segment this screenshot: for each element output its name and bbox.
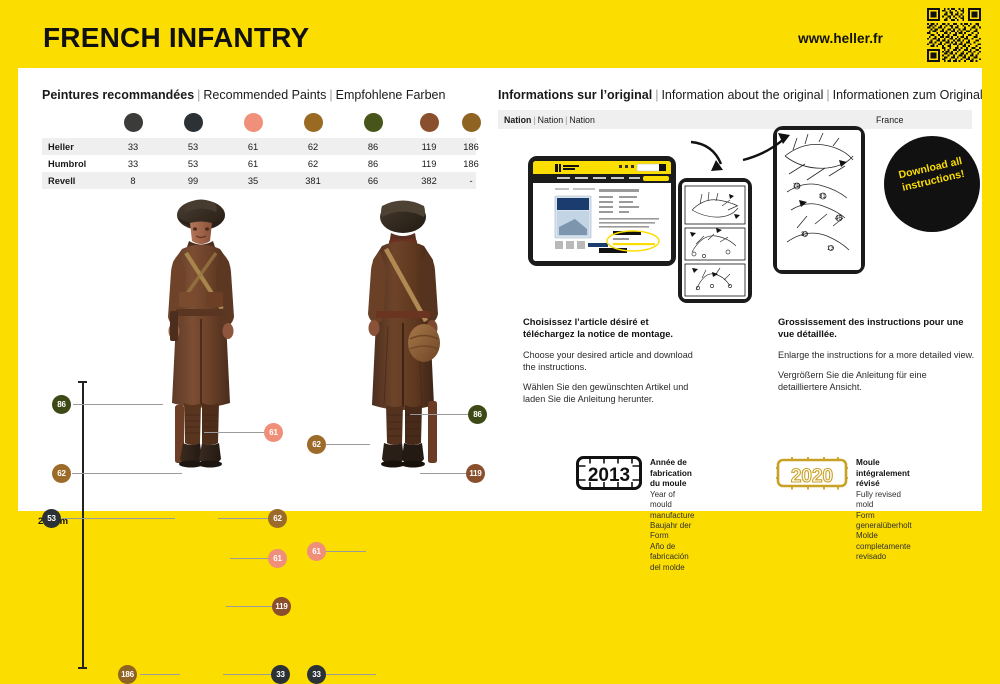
soldier-front-figure: [146, 191, 256, 491]
nation-row: Nation|Nation|Nation France: [498, 110, 972, 129]
paint-code-cell: 382: [409, 176, 449, 186]
leader-line: [204, 432, 266, 433]
mould-2020-de: Form generalüberholt: [856, 511, 912, 532]
paint-brand-label: Humbrol: [48, 159, 86, 169]
original-title-en: Information about the original: [661, 88, 823, 102]
paint-code-cell: 381: [293, 176, 333, 186]
paint-swatch-dark-ochre: [462, 113, 481, 132]
paint-code-cell: 119: [409, 142, 449, 152]
callout-badge-62-rear[interactable]: 62: [307, 435, 326, 454]
paint-code-cell: 186: [451, 142, 491, 152]
mould-2020-fr: Moule intégralement révisé: [856, 458, 912, 490]
paint-brand-label: Revell: [48, 176, 75, 186]
scale-bar-cap-bottom: [78, 667, 87, 669]
nation-label-fr: Nation: [504, 115, 531, 125]
leader-line: [72, 473, 182, 474]
website-url[interactable]: www.heller.fr: [798, 31, 883, 46]
mould-2020-sprue-icon: 2020: [776, 456, 848, 495]
paints-section-title: Peintures recommandées|Recommended Paint…: [42, 88, 445, 102]
paint-swatch-dark-grey: [124, 113, 143, 132]
paint-code-cell: 53: [173, 142, 213, 152]
callout-badge-119-front[interactable]: 119: [272, 597, 291, 616]
paint-code-cell: 186: [451, 159, 491, 169]
scale-bar-line: [82, 381, 84, 669]
paint-brand-label: Heller: [48, 142, 74, 152]
paints-title-en: Recommended Paints: [203, 88, 326, 102]
callout-badge-33-rear[interactable]: 33: [307, 665, 326, 684]
mould-2020-es: Molde completamente revisado: [856, 531, 912, 562]
instruction-blurbs: Choisissez l’article désiré et télécharg…: [488, 316, 982, 436]
scale-bar: [78, 381, 87, 669]
figure-diagram: 25 mm: [18, 186, 488, 511]
arrow-right-down-icon: [688, 138, 736, 179]
blurb-right-heading: Grossissement des instructions pour une …: [778, 316, 976, 341]
phone-mockup-instructions: [678, 178, 752, 303]
nation-label-en: Nation: [538, 115, 563, 125]
paint-code-cell: 66: [353, 176, 393, 186]
blurb-enlarge-instructions: Grossissement des instructions pour une …: [778, 316, 976, 393]
leader-line: [410, 414, 470, 415]
paints-panel: Peintures recommandées|Recommended Paint…: [18, 68, 488, 511]
paint-row-heller: Heller3353616286119186: [42, 138, 476, 155]
leader-line: [223, 674, 273, 675]
mould-2013-es: Año de fabricación del molde: [650, 542, 694, 573]
blurb-left-en: Choose your desired article and download…: [523, 349, 701, 373]
download-badge-text: Download all instructions!: [882, 152, 981, 199]
scale-bar-cap-top: [78, 381, 87, 383]
leader-line: [326, 444, 370, 445]
blurb-right-de: Vergrößern Sie die Anleitung für eine de…: [778, 369, 976, 393]
original-title-fr: Informations sur l’original: [498, 88, 652, 102]
paint-code-cell: -: [451, 176, 491, 186]
callout-badge-186-front[interactable]: 186: [118, 665, 137, 684]
paint-code-cell: 61: [233, 159, 273, 169]
blurb-choose-article: Choisissez l’article désiré et télécharg…: [523, 316, 701, 406]
leader-line: [420, 473, 468, 474]
mould-2020-en: Fully revised mold: [856, 490, 912, 511]
leader-line: [226, 606, 274, 607]
nation-label-de: Nation: [569, 115, 594, 125]
callout-badge-86-front[interactable]: 86: [52, 395, 71, 414]
blurb-left-de: Wählen Sie den gewünschten Artikel und l…: [523, 381, 701, 405]
callout-badge-61-front-face[interactable]: 61: [264, 423, 283, 442]
device-mockups: 793146 3313: [488, 128, 982, 318]
leader-line: [326, 551, 366, 552]
product-sheet: FRENCH INFANTRY www.heller.fr: [0, 0, 1000, 529]
soldier-rear-figure: [348, 191, 458, 491]
leader-line: [73, 404, 163, 405]
page-header: FRENCH INFANTRY www.heller.fr: [0, 0, 1000, 68]
title-separator-2: |: [326, 88, 335, 102]
leader-line: [326, 674, 376, 675]
svg-text:13: 13: [827, 246, 834, 252]
nation-label: Nation|Nation|Nation: [504, 115, 595, 125]
paint-swatch-red-brown: [420, 113, 439, 132]
paint-code-cell: 33: [113, 142, 153, 152]
original-info-panel: Informations sur l’original|Information …: [488, 68, 982, 511]
callout-badge-62-front-strap[interactable]: 62: [52, 464, 71, 483]
paint-code-cell: 86: [353, 142, 393, 152]
paint-code-cell: 61: [233, 142, 273, 152]
mould-2013-text: Année de fabrication du moule Year of mo…: [650, 458, 694, 573]
mould-2013-de: Baujahr der Form: [650, 521, 694, 542]
paint-code-cell: 35: [233, 176, 273, 186]
callout-badge-119-rear[interactable]: 119: [466, 464, 485, 483]
blurb-left-heading: Choisissez l’article désiré et télécharg…: [523, 316, 701, 341]
paint-code-cell: 33: [113, 159, 153, 169]
callout-badge-86-rear[interactable]: 86: [468, 405, 487, 424]
tablet-mockup: [528, 156, 676, 266]
paint-code-cell: 119: [409, 159, 449, 169]
orig-separator-2: |: [823, 88, 832, 102]
paint-swatch-row: [42, 110, 476, 136]
arrow-right-up-icon: [740, 132, 794, 171]
mould-2013-en: Year of mould manufacture: [650, 490, 694, 521]
paint-row-humbrol: Humbrol3353616286119186: [42, 155, 476, 172]
download-all-instructions-badge[interactable]: Download all instructions!: [884, 136, 980, 232]
paint-code-cell: 53: [173, 159, 213, 169]
callout-badge-33-front[interactable]: 33: [271, 665, 290, 684]
mould-2013-year: 2013: [588, 465, 630, 486]
paint-swatch-olive-green: [364, 113, 383, 132]
leader-line: [140, 674, 180, 675]
svg-text:46: 46: [835, 216, 842, 222]
leader-line: [62, 518, 175, 519]
mould-2013-sprue-icon: 2013: [576, 456, 642, 495]
paint-code-cell: 99: [173, 176, 213, 186]
callout-badge-62-front-pouch[interactable]: 62: [268, 509, 287, 528]
original-title-de: Informationen zum Original: [833, 88, 983, 102]
paint-swatch-ochre-brown: [304, 113, 323, 132]
callout-badge-61-rear[interactable]: 61: [307, 542, 326, 561]
leader-line: [218, 518, 270, 519]
callout-badge-53-front[interactable]: 53: [42, 509, 61, 528]
paint-code-cell: 8: [113, 176, 153, 186]
callout-badge-61-front-hand[interactable]: 61: [268, 549, 287, 568]
mould-2020-year: 2020: [791, 466, 833, 487]
paints-title-fr: Peintures recommandées: [42, 88, 194, 102]
original-section-title: Informations sur l’original|Information …: [498, 88, 983, 102]
paint-code-cell: 62: [293, 142, 333, 152]
mould-2020-text: Moule intégralement révisé Fully revised…: [856, 458, 912, 563]
paint-table: Heller3353616286119186Humbrol33536162861…: [42, 138, 476, 189]
svg-text:79: 79: [793, 184, 800, 190]
paint-swatch-salmon-flesh: [244, 113, 263, 132]
mould-badges: 2013 Année de fabrication du moule Year …: [488, 450, 982, 510]
page-title: FRENCH INFANTRY: [43, 22, 309, 54]
nation-value: France: [876, 115, 903, 125]
content-card: Peintures recommandées|Recommended Paint…: [18, 68, 982, 511]
leader-line: [230, 558, 270, 559]
paint-code-cell: 62: [293, 159, 333, 169]
mould-2013-fr: Année de fabrication du moule: [650, 458, 694, 490]
phone1-screen: [682, 182, 748, 299]
paint-swatch-black-grey: [184, 113, 203, 132]
blurb-right-en: Enlarge the instructions for a more deta…: [778, 349, 976, 361]
paint-code-cell: 86: [353, 159, 393, 169]
qr-code-icon[interactable]: [925, 8, 983, 62]
svg-text:31: 31: [819, 194, 826, 200]
tablet-screen: [533, 161, 671, 261]
svg-text:33: 33: [801, 232, 808, 238]
paints-title-de: Empfohlene Farben: [336, 88, 446, 102]
